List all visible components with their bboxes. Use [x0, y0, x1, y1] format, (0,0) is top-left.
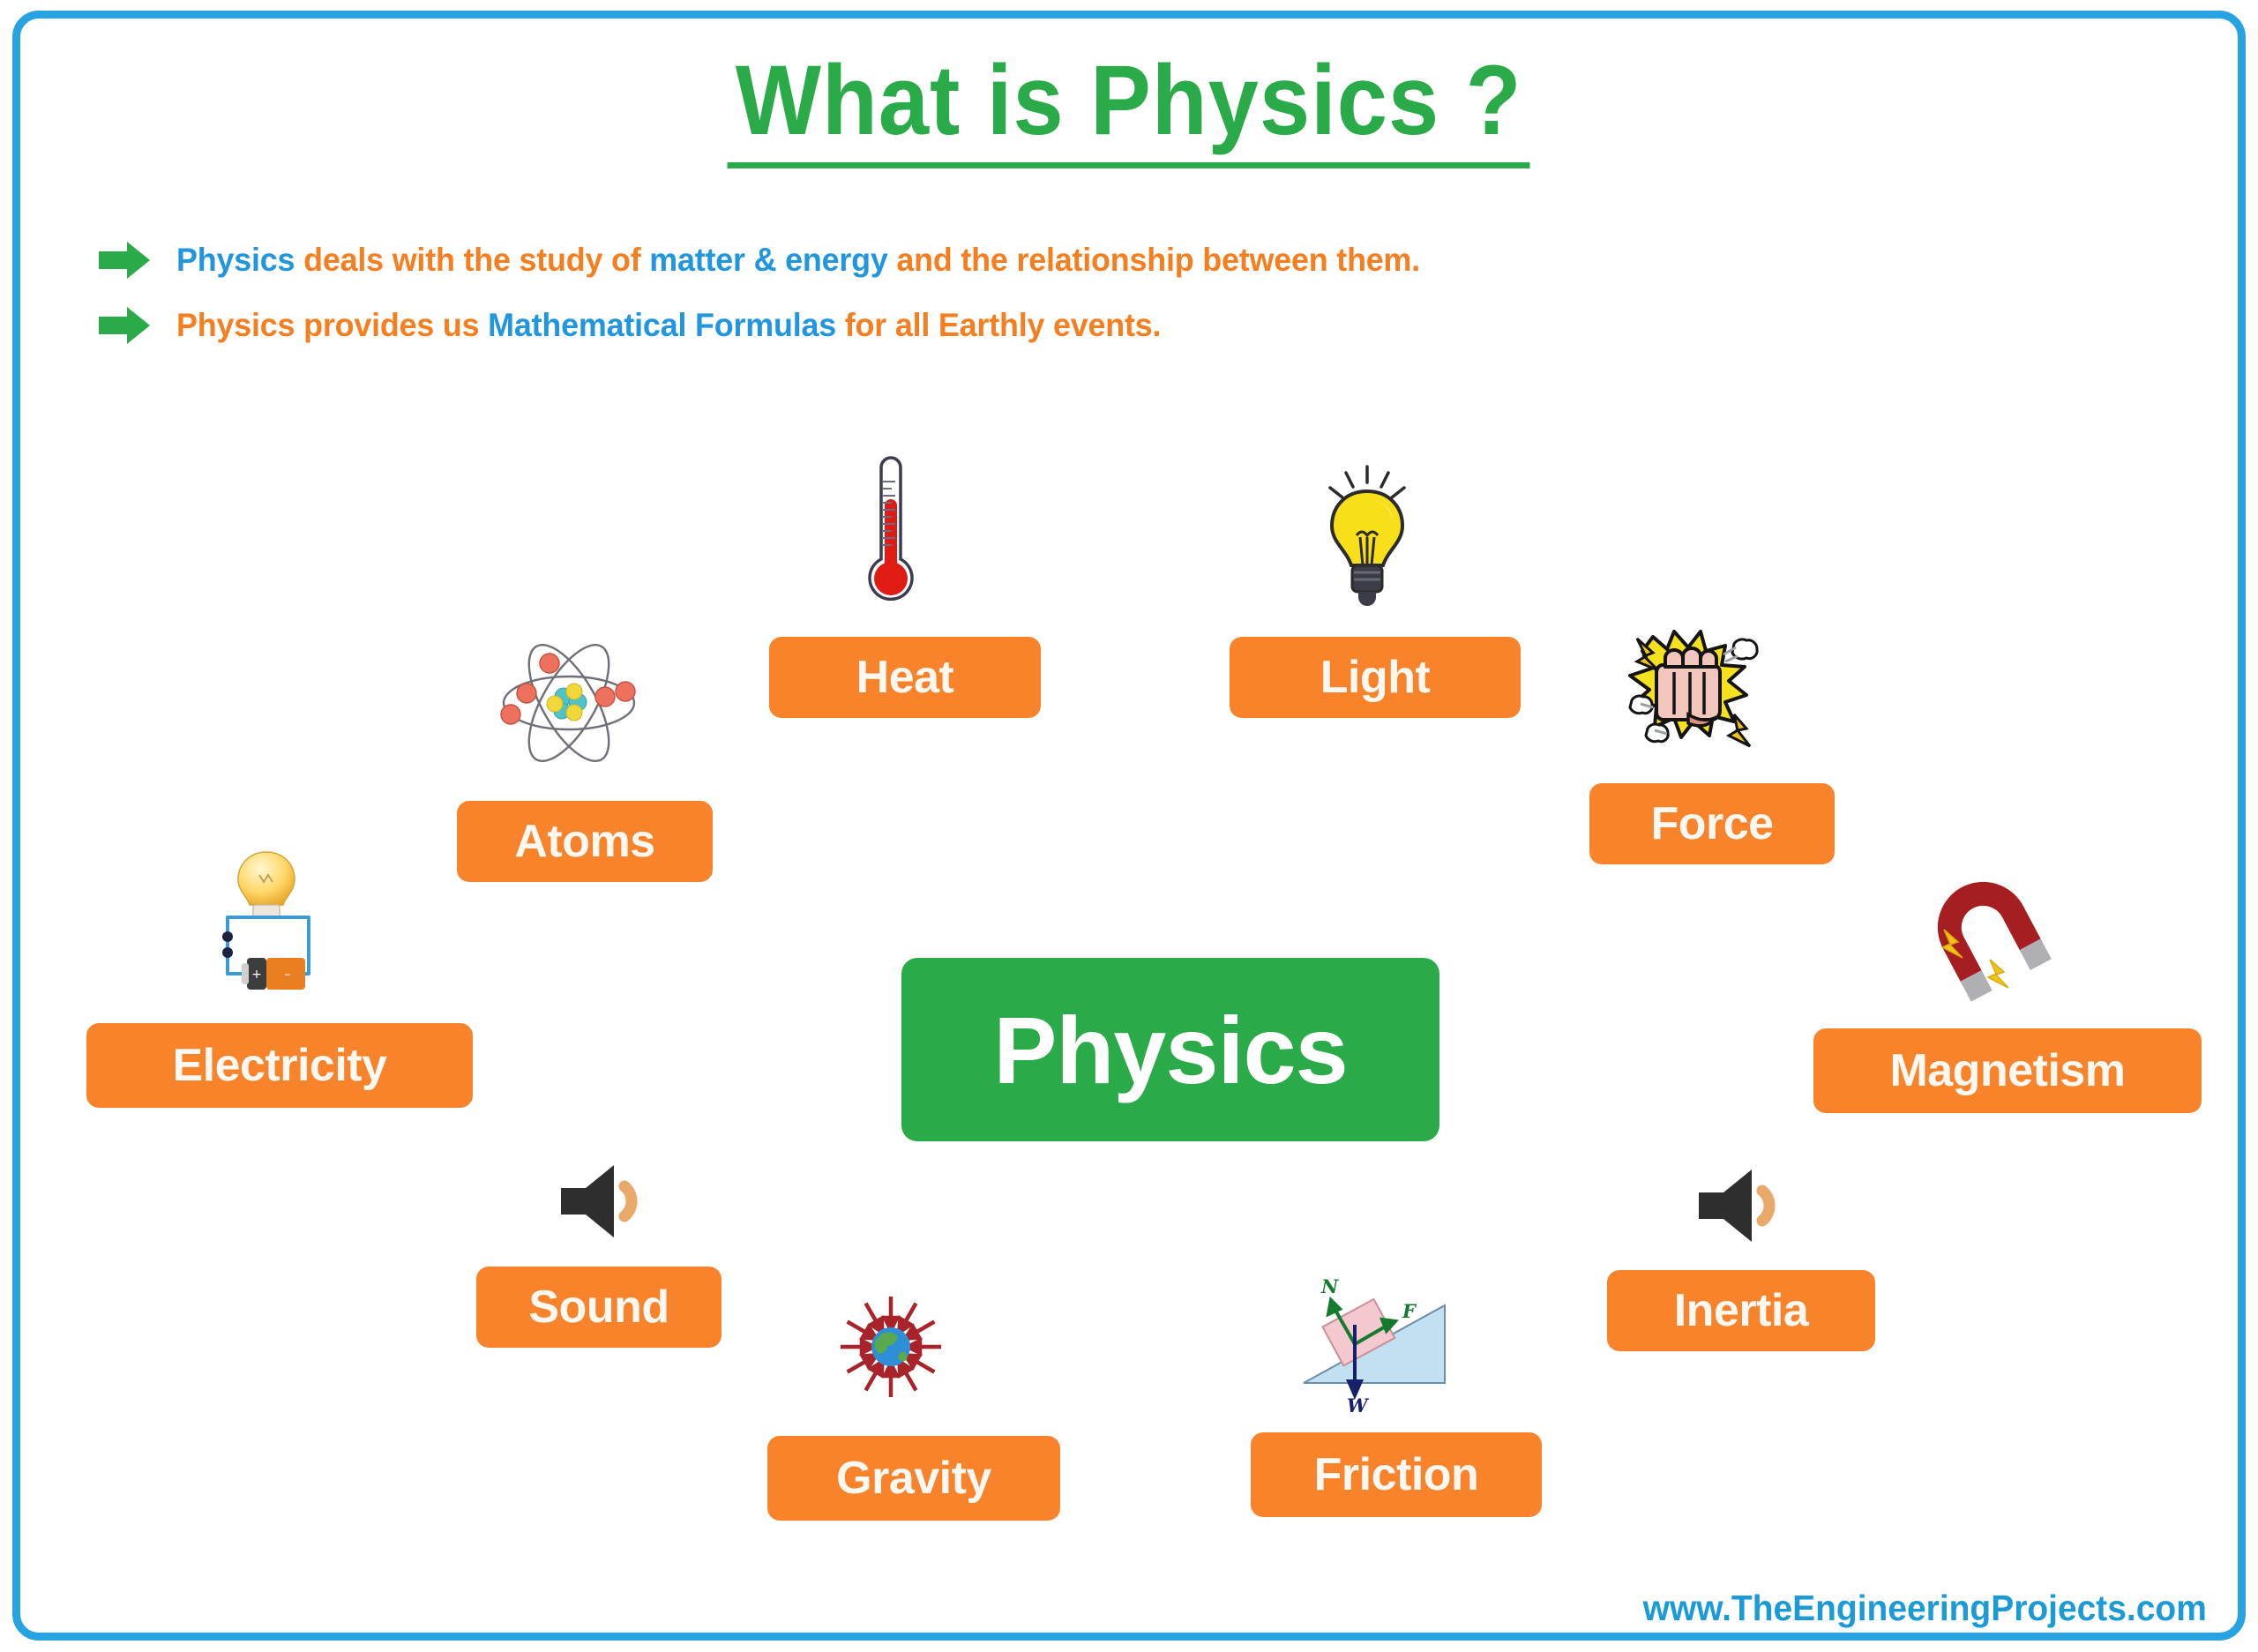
bullet-segment: Physics provides us [176, 307, 488, 343]
bullet-segment: and the relationship between them. [896, 242, 1420, 278]
bullet-segment: deals with the study of [303, 242, 649, 278]
node-chip-friction[interactable]: Friction [1251, 1432, 1542, 1517]
svg-text:–: – [285, 968, 291, 982]
node-label: Atoms [514, 815, 654, 868]
node-label: Friction [1314, 1448, 1479, 1501]
node-chip-force[interactable]: Force [1589, 783, 1835, 864]
node-label: Heat [856, 651, 954, 704]
horseshoe-magnet-icon [1925, 875, 2052, 1012]
bullet-segment: Physics [176, 242, 303, 278]
footer-website-url[interactable]: www.TheEngineeringProjects.com [1643, 1588, 2207, 1629]
earth-gravity-arrows-icon [829, 1289, 953, 1409]
bullet-text: Physics deals with the study of matter &… [176, 242, 1420, 279]
node-chip-sound[interactable]: Sound [476, 1267, 722, 1348]
node-label: Magnetism [1889, 1044, 2125, 1097]
bullet-list: Physics deals with the study of matter &… [97, 228, 2126, 358]
friction-label-n: N [1320, 1275, 1339, 1297]
svg-text:+: + [251, 968, 262, 982]
friction-label-w: W [1347, 1394, 1370, 1416]
inclined-plane-forces-icon: N F W [1290, 1270, 1466, 1420]
node-label: Inertia [1674, 1284, 1809, 1337]
fist-burst-icon [1612, 623, 1762, 764]
node-label: Sound [528, 1281, 669, 1334]
bullet-segment: for all Earthly events. [845, 307, 1162, 343]
center-node-label: Physics [993, 995, 1347, 1105]
green-right-arrow-icon [97, 305, 152, 346]
node-chip-light[interactable]: Light [1230, 637, 1521, 718]
node-label: Light [1320, 651, 1431, 704]
thermometer-icon [851, 450, 931, 613]
friction-label-f: F [1402, 1300, 1417, 1322]
circuit-battery-bulb-icon: + – [212, 848, 326, 998]
green-right-arrow-icon [97, 240, 152, 280]
node-chip-magnetism[interactable]: Magnetism [1813, 1028, 2202, 1113]
speaker-icon [1693, 1164, 1791, 1252]
node-chip-inertia[interactable]: Inertia [1607, 1270, 1875, 1351]
node-label: Electricity [172, 1039, 386, 1092]
lightbulb-icon [1314, 461, 1420, 611]
bullet-text: Physics provides us Mathematical Formula… [176, 307, 1161, 344]
bullet-item: Physics deals with the study of matter &… [97, 228, 2126, 293]
bullet-segment: Mathematical Formulas [488, 307, 845, 343]
page-title-container: What is Physics ? [0, 51, 2258, 168]
atom-icon [498, 644, 639, 767]
center-node-physics[interactable]: Physics [901, 958, 1439, 1141]
node-label: Gravity [836, 1452, 991, 1505]
node-label: Force [1650, 797, 1773, 850]
node-chip-heat[interactable]: Heat [769, 637, 1041, 718]
infographic-poster: What is Physics ? Physics deals with the… [0, 0, 2258, 1652]
speaker-icon [556, 1160, 653, 1248]
bullet-segment: matter & energy [649, 242, 896, 278]
bullet-item: Physics provides us Mathematical Formula… [97, 293, 2126, 358]
node-chip-atoms[interactable]: Atoms [457, 801, 713, 882]
page-title: What is Physics ? [728, 51, 1530, 168]
node-chip-gravity[interactable]: Gravity [767, 1436, 1060, 1521]
node-chip-electricity[interactable]: Electricity [86, 1023, 473, 1108]
